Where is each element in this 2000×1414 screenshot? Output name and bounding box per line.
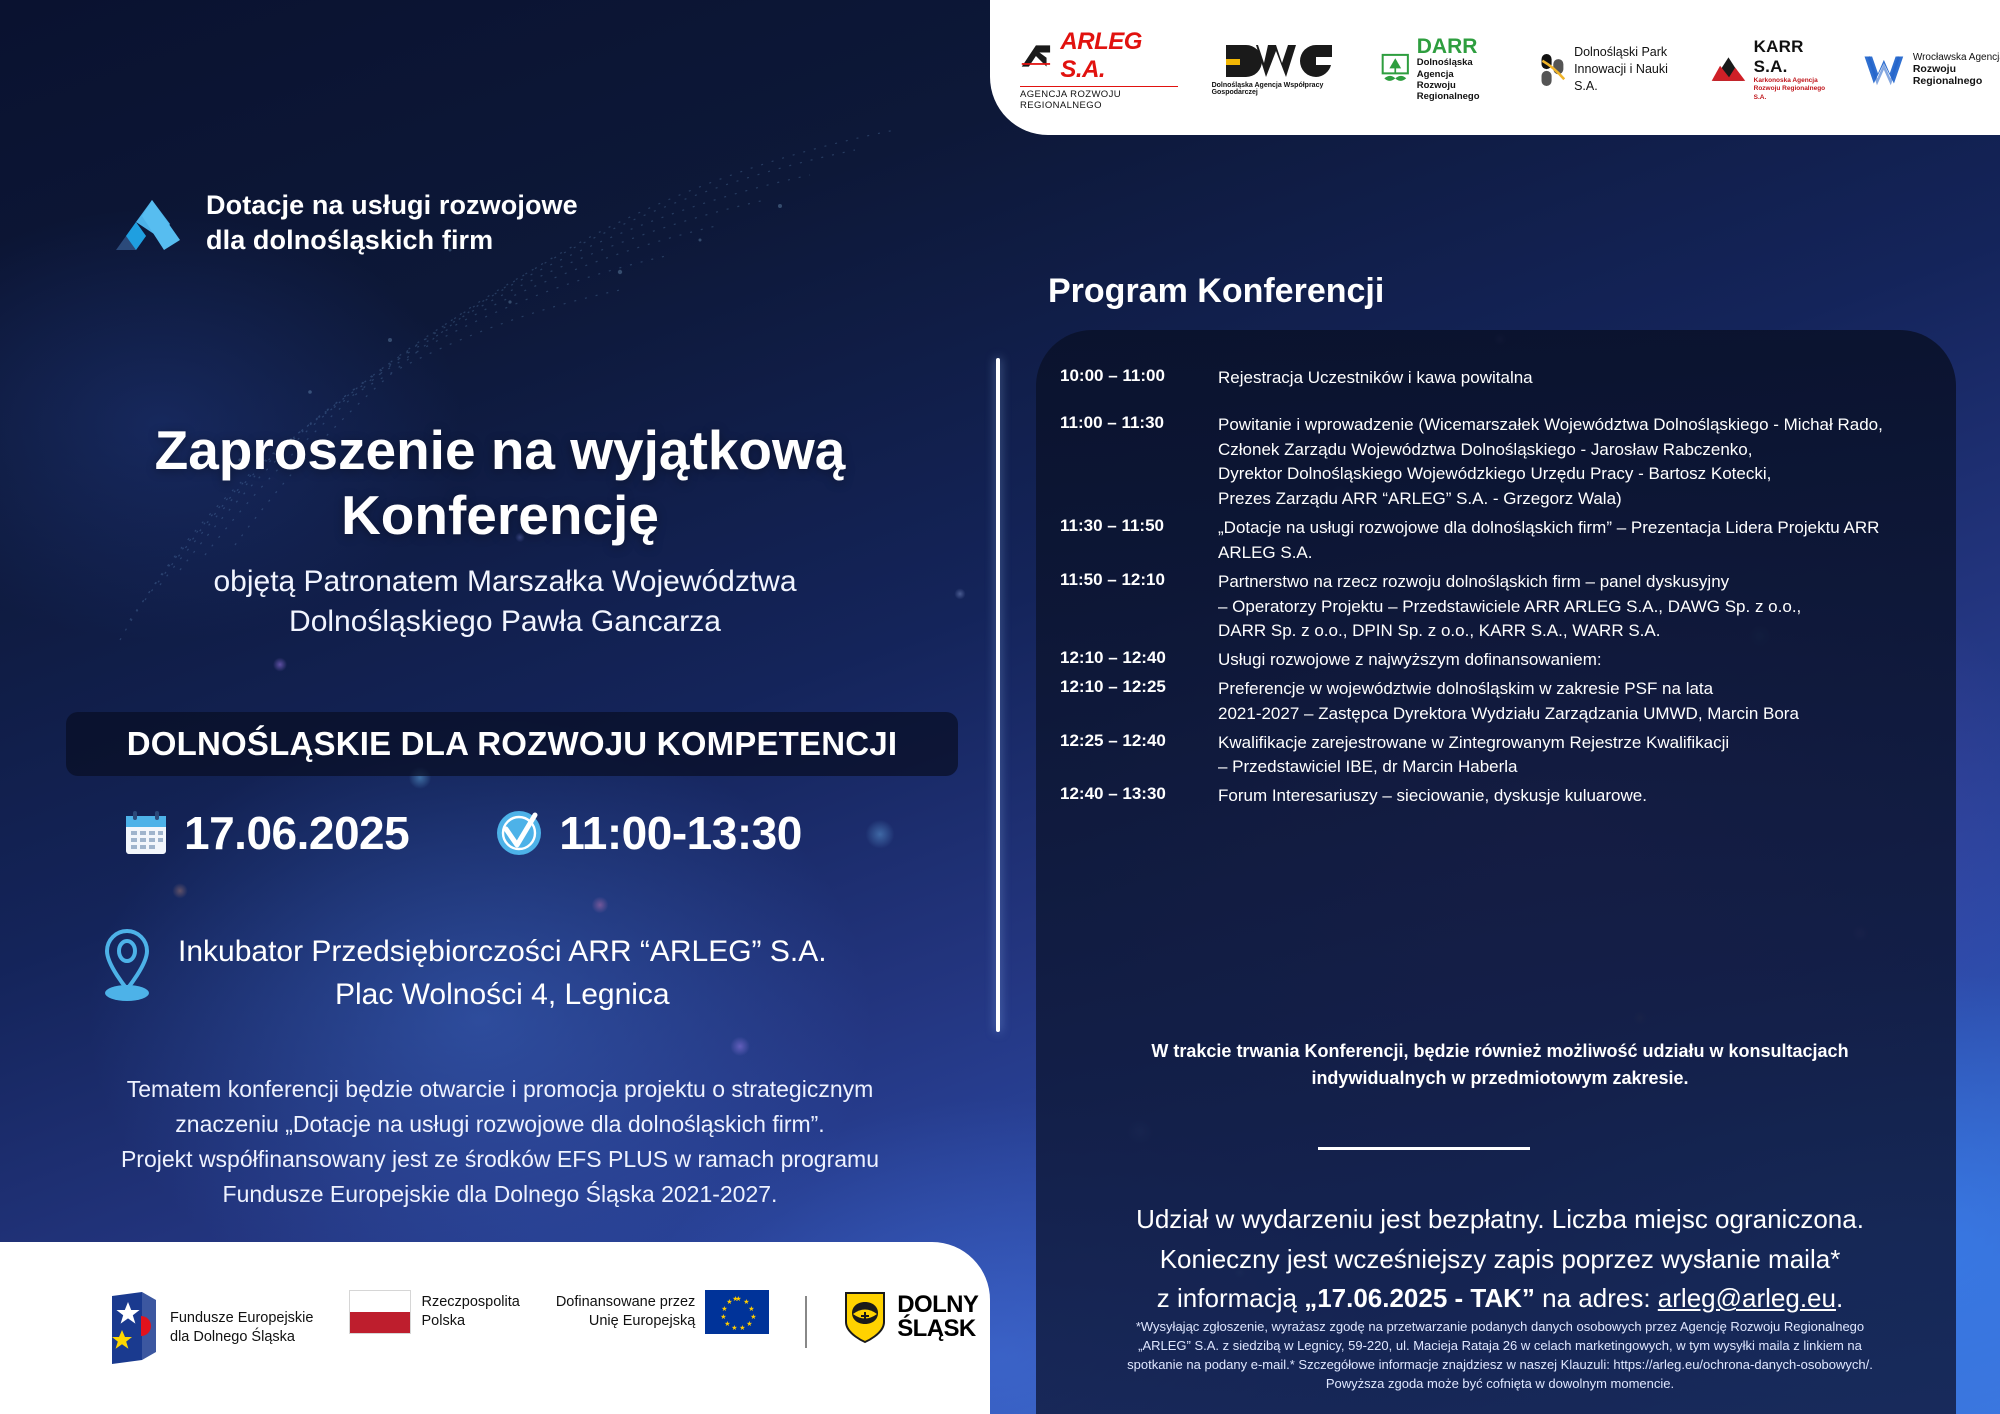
event-date: 17.06.2025	[124, 806, 409, 860]
event-time: 11:00-13:30	[495, 806, 802, 860]
logo-karr: KARR S.A. Karkonoska Agencja Rozwoju Reg…	[1710, 37, 1828, 101]
rp-line-1: Rzeczpospolita	[421, 1293, 519, 1312]
eu-line-2: Unię Europejską	[556, 1312, 695, 1331]
schedule-desc-line: Preferencje w województwie dolnośląskim …	[1218, 677, 1940, 702]
schedule-desc-line: – Przedstawiciel IBE, dr Marcin Haberla	[1218, 755, 1940, 780]
dolny-slask-crest-icon	[843, 1290, 887, 1344]
schedule-desc: „Dotacje na usługi rozwojowe dla dolnośl…	[1218, 516, 1940, 566]
schedule-time: 12:25 – 12:40	[1060, 731, 1196, 781]
schedule-desc: Rejestracja Uczestników i kawa powitalna	[1218, 366, 1940, 391]
schedule-desc-line: Partnerstwo na rzecz rozwoju dolnośląski…	[1218, 570, 1940, 595]
blurb-line-3: Projekt współfinansowany jest ze środków…	[100, 1142, 900, 1177]
event-time-value: 11:00-13:30	[559, 806, 802, 860]
karr-tagline-1: Karkonoska Agencja	[1754, 77, 1828, 85]
darr-tagline-2: Rozwoju Regionalnego	[1417, 80, 1505, 103]
cta-line-3: z informacją „17.06.2025 - TAK” na adres…	[1080, 1279, 1920, 1319]
poland-flag-icon	[349, 1290, 411, 1334]
registration-cta: Udział w wydarzeniu jest bezpłatny. Licz…	[1080, 1200, 1920, 1319]
clock-check-icon	[495, 809, 543, 857]
dawg-mark-icon	[1224, 43, 1334, 79]
partner-logo-bar: ARLEG S.A. AGENCJA ROZWOJU REGIONALNEGO …	[990, 0, 2000, 135]
calendar-icon	[124, 810, 168, 856]
dpin-mark-icon	[1539, 49, 1568, 91]
cta-post: .	[1836, 1283, 1843, 1313]
location-line-1: Inkubator Przedsiębiorczości ARR “ARLEG”…	[178, 935, 827, 968]
karr-wordmark: KARR S.A.	[1754, 37, 1828, 77]
theme-banner-label: DOLNOŚLĄSKIE DLA ROZWOJU KOMPETENCJI	[127, 725, 898, 763]
logo-dolny-slask: DOLNY ŚLĄSK	[843, 1290, 978, 1344]
fundusze-europejskie-icon	[108, 1290, 160, 1366]
schedule-desc-line: Dyrektor Dolnośląskiego Wojewódzkiego Ur…	[1218, 462, 1940, 487]
arleg-wordmark: ARLEG S.A.	[1060, 28, 1177, 84]
schedule-row: 12:40 – 13:30 Forum Interesariuszy – sie…	[1060, 784, 1940, 809]
arleg-mark-icon	[1020, 42, 1055, 70]
cta-keyword: „17.06.2025 - TAK”	[1304, 1283, 1535, 1313]
schedule-desc-line: Rejestracja Uczestników i kawa powitalna	[1218, 366, 1940, 391]
column-divider	[996, 358, 1000, 1032]
program-schedule: 10:00 – 11:00 Rejestracja Uczestników i …	[1060, 366, 1940, 809]
ds-line-2: ŚLĄSK	[897, 1317, 978, 1341]
rp-line-2: Polska	[421, 1312, 519, 1331]
arleg-tagline: AGENCJA ROZWOJU REGIONALNEGO	[1020, 86, 1178, 111]
schedule-row: 11:50 – 12:10 Partnerstwo na rzecz rozwo…	[1060, 570, 1940, 644]
section-rule	[1318, 1147, 1530, 1150]
eu-line-1: Dofinansowane przez	[556, 1293, 695, 1312]
fineprint-line-3: spotkanie na podany e-mail.* Szczegółowe…	[1050, 1356, 1950, 1375]
theme-banner: DOLNOŚLĄSKIE DLA ROZWOJU KOMPETENCJI	[66, 712, 958, 776]
invitation-column: Zaproszenie na wyjątkową Konferencję obj…	[0, 0, 1000, 1414]
cta-pre: z informacją	[1157, 1283, 1304, 1313]
fineprint-line-1: *Wysyłając zgłoszenie, wyrażasz zgodę na…	[1050, 1318, 1950, 1337]
headline-line-1: Zaproszenie na wyjątkową	[60, 418, 940, 483]
event-meta: 17.06.2025 11:00-13:30	[96, 806, 956, 860]
schedule-desc: Forum Interesariuszy – sieciowanie, dysk…	[1218, 784, 1940, 809]
logo-fundusze-europejskie: Fundusze Europejskie dla Dolnego Śląska	[108, 1290, 313, 1366]
blurb-line-2: znaczeniu „Dotacje na usługi rozwojowe d…	[100, 1107, 900, 1142]
logo-warr: Wrocławska Agencja Rozwoju Regionalnego	[1862, 50, 2000, 90]
description-paragraph: Tematem konferencji będzie otwarcie i pr…	[100, 1072, 900, 1212]
schedule-desc-line: DARR Sp. z o.o., DPIN Sp. z o.o., KARR S…	[1218, 619, 1940, 644]
subhead-line-2: Dolnośląskiego Pawła Gancarza	[110, 602, 900, 642]
schedule-time: 12:10 – 12:40	[1060, 648, 1196, 673]
logo-dawg: Dolnośląska Agencja Współpracy Gospodarc…	[1212, 43, 1348, 96]
schedule-desc-line: Usługi rozwojowe z najwyższym dofinansow…	[1218, 648, 1940, 673]
darr-tree-icon	[1381, 50, 1410, 90]
schedule-desc: Partnerstwo na rzecz rozwoju dolnośląski…	[1218, 570, 1940, 644]
registration-email-link[interactable]: arleg@arleg.eu	[1658, 1283, 1836, 1313]
subtitle: objętą Patronatem Marszałka Województwa …	[110, 562, 900, 642]
schedule-desc-line: 2021-2027 – Zastępca Dyrektora Wydziału …	[1218, 702, 1940, 727]
cta-line-1: Udział w wydarzeniu jest bezpłatny. Licz…	[1080, 1200, 1920, 1240]
schedule-row: 12:25 – 12:40 Kwalifikacje zarejestrowan…	[1060, 731, 1940, 781]
schedule-row: 10:00 – 11:00 Rejestracja Uczestników i …	[1060, 366, 1940, 391]
dpin-name-2: Innowacji i Nauki S.A.	[1574, 61, 1676, 95]
schedule-desc-line: – Operatorzy Projektu – Przedstawiciele …	[1218, 595, 1940, 620]
schedule-time: 11:30 – 11:50	[1060, 516, 1196, 566]
blurb-line-4: Fundusze Europejskie dla Dolnego Śląska …	[100, 1177, 900, 1212]
location-line-2: Plac Wolności 4, Legnica	[178, 974, 827, 1017]
blurb-line-1: Tematem konferencji będzie otwarcie i pr…	[100, 1072, 900, 1107]
schedule-desc: Kwalifikacje zarejestrowane w Zintegrowa…	[1218, 731, 1940, 781]
cta-mid: na adres:	[1535, 1283, 1658, 1313]
subhead-line-1: objętą Patronatem Marszałka Województwa	[110, 562, 900, 602]
ds-line-1: DOLNY	[897, 1293, 978, 1317]
funding-logo-bar: Fundusze Europejskie dla Dolnego Śląska …	[0, 1242, 990, 1414]
darr-wordmark: DARR	[1417, 36, 1505, 57]
schedule-time: 10:00 – 11:00	[1060, 366, 1196, 391]
cta-line-2: Konieczny jest wcześniejszy zapis poprze…	[1080, 1240, 1920, 1280]
consultation-note: W trakcie trwania Konferencji, będzie ró…	[1090, 1038, 1910, 1093]
logo-unia-europejska: Dofinansowane przez Unię Europejską ★ ★ …	[556, 1290, 769, 1334]
dawg-tagline: Dolnośląska Agencja Współpracy Gospodarc…	[1212, 82, 1348, 96]
warr-name-1: Wrocławska Agencja	[1913, 52, 2000, 63]
program-title: Program Konferencji	[1048, 272, 1384, 311]
schedule-desc-line: ARLEG S.A.	[1218, 541, 1940, 566]
schedule-desc-line: „Dotacje na usługi rozwojowe dla dolnośl…	[1218, 516, 1940, 541]
map-pin-icon	[96, 925, 158, 1003]
logo-arleg: ARLEG S.A. AGENCJA ROZWOJU REGIONALNEGO	[1020, 28, 1178, 111]
schedule-desc-line: Członek Zarządu Województwa Dolnośląskie…	[1218, 438, 1940, 463]
note-line-1: W trakcie trwania Konferencji, będzie ró…	[1090, 1038, 1910, 1065]
dpin-name-1: Dolnośląski Park	[1574, 44, 1676, 61]
schedule-row: 12:10 – 12:25 Preferencje w województwie…	[1060, 677, 1940, 727]
event-location: Inkubator Przedsiębiorczości ARR “ARLEG”…	[96, 925, 976, 1016]
schedule-desc-line: Prezes Zarządu ARR “ARLEG” S.A. - Grzego…	[1218, 487, 1940, 512]
logo-dpin: Dolnośląski Park Innowacji i Nauki S.A.	[1539, 44, 1676, 95]
poster-root: ARLEG S.A. AGENCJA ROZWOJU REGIONALNEGO …	[0, 0, 2000, 1414]
schedule-time: 12:10 – 12:25	[1060, 677, 1196, 727]
logo-darr: DARR Dolnośląska Agencja Rozwoju Regiona…	[1381, 36, 1504, 103]
logo-rzeczpospolita-polska: Rzeczpospolita Polska	[349, 1290, 519, 1334]
darr-tagline-1: Dolnośląska Agencja	[1417, 57, 1505, 80]
schedule-desc-line: Powitanie i wprowadzenie (Wicemarszałek …	[1218, 413, 1940, 438]
event-date-value: 17.06.2025	[184, 806, 409, 860]
schedule-row: 11:30 – 11:50 „Dotacje na usługi rozwojo…	[1060, 516, 1940, 566]
schedule-desc-line: Forum Interesariuszy – sieciowanie, dysk…	[1218, 784, 1940, 809]
note-line-2: indywidualnych w przedmiotowym zakresie.	[1090, 1065, 1910, 1092]
footer-separator	[805, 1296, 807, 1348]
schedule-time: 11:50 – 12:10	[1060, 570, 1196, 644]
warr-name-2: Rozwoju Regionalnego	[1913, 63, 2000, 87]
schedule-desc: Preferencje w województwie dolnośląskim …	[1218, 677, 1940, 727]
karr-mountain-icon	[1710, 53, 1747, 87]
schedule-time: 11:00 – 11:30	[1060, 413, 1196, 512]
fe-line-1: Fundusze Europejskie	[170, 1309, 313, 1328]
event-location-text: Inkubator Przedsiębiorczości ARR “ARLEG”…	[178, 925, 827, 1016]
privacy-fineprint: *Wysyłając zgłoszenie, wyrażasz zgodę na…	[1050, 1318, 1950, 1394]
page-title: Zaproszenie na wyjątkową Konferencję	[60, 418, 940, 548]
fineprint-line-2: „ARLEG” S.A. z siedzibą w Legnicy, 59-22…	[1050, 1337, 1950, 1356]
schedule-desc-line: Kwalifikacje zarejestrowane w Zintegrowa…	[1218, 731, 1940, 756]
schedule-row: 12:10 – 12:40 Usługi rozwojowe z najwyżs…	[1060, 648, 1940, 673]
fe-line-2: dla Dolnego Śląska	[170, 1328, 313, 1347]
schedule-desc: Usługi rozwojowe z najwyższym dofinansow…	[1218, 648, 1940, 673]
schedule-time: 12:40 – 13:30	[1060, 784, 1196, 809]
schedule-row: 11:00 – 11:30 Powitanie i wprowadzenie (…	[1060, 413, 1940, 512]
fineprint-line-4: Powyższa zgoda może być cofnięta w dowol…	[1050, 1375, 1950, 1394]
schedule-desc: Powitanie i wprowadzenie (Wicemarszałek …	[1218, 413, 1940, 512]
karr-tagline-2: Rozwoju Regionalnego S.A.	[1754, 85, 1828, 101]
eu-flag-icon: ★ ★ ★ ★ ★ ★ ★ ★ ★ ★ ★ ★	[705, 1290, 769, 1334]
headline-line-2: Konferencję	[60, 483, 940, 548]
warr-w-icon	[1862, 50, 1906, 90]
